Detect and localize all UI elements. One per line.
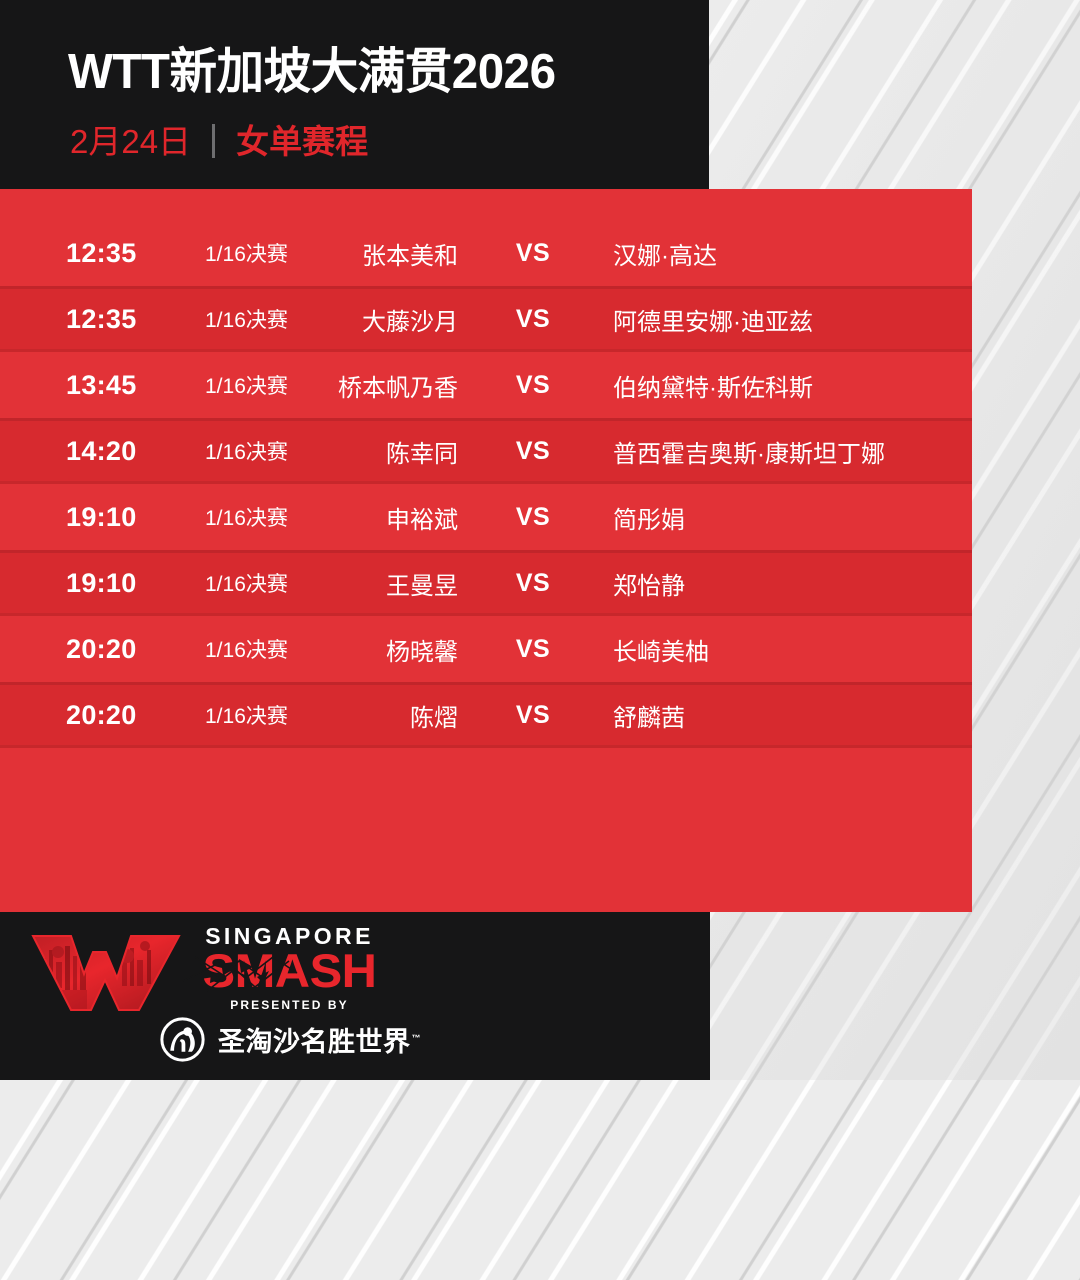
- schedule-date: 2月24日: [70, 125, 191, 158]
- match-player-two: 舒麟茜: [613, 698, 685, 733]
- footer-block: SINGAPORE SMASH PRE: [0, 912, 710, 1080]
- match-row[interactable]: 13:451/16决赛桥本帆乃香VS伯纳黛特·斯佐科斯: [0, 352, 972, 418]
- match-vs-label: VS: [509, 503, 557, 532]
- match-player-two: 阿德里安娜·迪亚兹: [613, 302, 813, 337]
- match-player-two: 简彤娟: [613, 500, 685, 535]
- sponsor-lockup: 圣淘沙名胜世界™: [160, 1017, 421, 1062]
- presented-by-label: PRESENTED BY: [177, 998, 402, 1012]
- match-row[interactable]: 14:201/16决赛陈幸同VS普西霍吉奥斯·康斯坦丁娜: [0, 418, 972, 484]
- match-row[interactable]: 19:101/16决赛申裕斌VS简彤娟: [0, 484, 972, 550]
- trademark-symbol: ™: [412, 1033, 422, 1043]
- match-time: 19:10: [66, 502, 186, 533]
- match-row[interactable]: 12:351/16决赛大藤沙月VS阿德里安娜·迪亚兹: [0, 286, 972, 352]
- match-player-two: 普西霍吉奥斯·康斯坦丁娜: [613, 434, 885, 469]
- header-block: WTT新加坡大满贯2026 2月24日 女单赛程: [0, 0, 709, 189]
- match-player-one: 申裕斌: [300, 500, 458, 535]
- match-player-two: 汉娜·高达: [613, 236, 717, 271]
- footer-logo-group: SINGAPORE SMASH PRE: [0, 912, 710, 1080]
- wtt-w-logo-icon: [27, 930, 187, 1016]
- match-player-two: 伯纳黛特·斯佐科斯: [613, 368, 813, 403]
- match-vs-label: VS: [509, 635, 557, 664]
- match-player-one: 杨晓馨: [300, 632, 458, 667]
- sponsor-name-text: 圣淘沙名胜世界: [218, 1027, 411, 1057]
- match-row[interactable]: 20:201/16决赛陈熠VS舒麟茜: [0, 682, 972, 748]
- match-time: 20:20: [66, 700, 186, 731]
- match-vs-label: VS: [509, 305, 557, 334]
- match-row[interactable]: 12:351/16决赛张本美和VS汉娜·高达: [0, 220, 972, 286]
- subtitle-divider: [212, 124, 215, 158]
- sponsor-name: 圣淘沙名胜世界™: [218, 1020, 421, 1059]
- smash-shatter-crack-icon: [177, 947, 402, 995]
- match-time: 19:10: [66, 568, 186, 599]
- match-player-two: 长崎美柚: [613, 632, 709, 667]
- match-player-one: 王曼昱: [300, 566, 458, 601]
- match-time: 14:20: [66, 436, 186, 467]
- resorts-world-sentosa-icon: [160, 1017, 205, 1062]
- smash-wordmark-wrap: SMASH: [177, 947, 402, 995]
- match-time: 13:45: [66, 370, 186, 401]
- subtitle-row: 2月24日 女单赛程: [70, 124, 368, 158]
- match-vs-label: VS: [509, 239, 557, 268]
- match-player-one: 桥本帆乃香: [300, 368, 458, 403]
- match-row[interactable]: 20:201/16决赛杨晓馨VS长崎美柚: [0, 616, 972, 682]
- match-player-one: 陈熠: [300, 698, 458, 733]
- match-player-one: 陈幸同: [300, 434, 458, 469]
- page-title: WTT新加坡大满贯2026: [68, 48, 556, 97]
- match-player-one: 张本美和: [300, 236, 458, 271]
- match-vs-label: VS: [509, 701, 557, 730]
- match-player-two: 郑怡静: [613, 566, 685, 601]
- match-vs-label: VS: [509, 437, 557, 466]
- schedule-panel: 12:351/16决赛张本美和VS汉娜·高达12:351/16决赛大藤沙月VS阿…: [0, 189, 972, 912]
- match-time: 12:35: [66, 238, 186, 269]
- singapore-smash-logo: SINGAPORE SMASH PRE: [177, 924, 402, 1012]
- match-vs-label: VS: [509, 569, 557, 598]
- match-vs-label: VS: [509, 371, 557, 400]
- match-player-one: 大藤沙月: [300, 302, 458, 337]
- match-time: 20:20: [66, 634, 186, 665]
- match-time: 12:35: [66, 304, 186, 335]
- match-row[interactable]: 19:101/16决赛王曼昱VS郑怡静: [0, 550, 972, 616]
- match-list: 12:351/16决赛张本美和VS汉娜·高达12:351/16决赛大藤沙月VS阿…: [0, 220, 972, 748]
- event-category-label: 女单赛程: [236, 125, 368, 158]
